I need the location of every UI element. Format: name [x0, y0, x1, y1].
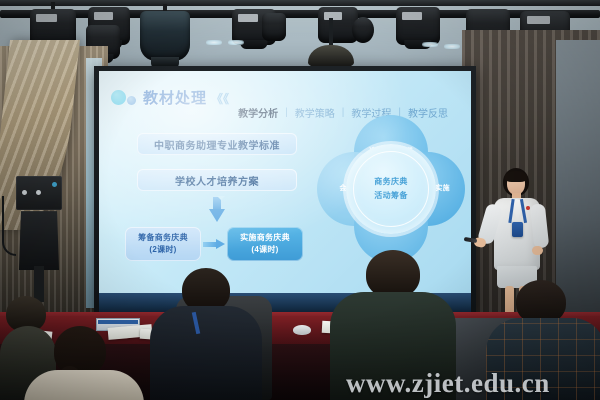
ceiling-downlight: [444, 44, 460, 49]
standard-card-talent-plan: 学校人才培养方案: [137, 169, 297, 191]
ceiling-downlight: [228, 40, 244, 45]
av-device: [16, 176, 62, 210]
arrow-notch: [217, 196, 225, 200]
petal-diagram: 选择传播渠道 会场布置 活动策划实施 邀请函拟写 商务庆典 活动筹备: [317, 115, 465, 263]
audience-member: [24, 326, 144, 400]
stage-light-blue: [140, 4, 190, 60]
ceiling-downlight: [206, 40, 222, 45]
standard-card-curriculum: 中职商务助理专业教学标准: [137, 133, 297, 155]
ceiling-downlight: [422, 42, 438, 47]
flow-step-prepare: 筹备商务庆典 (2课时): [125, 227, 201, 261]
presenter-right-arm: [530, 203, 550, 248]
stage-light-label: [527, 16, 550, 24]
stage-light-label: [36, 14, 57, 22]
stage-light: [396, 0, 440, 42]
stage-light: [262, 6, 286, 38]
desk-nameplate-banner: [98, 320, 138, 324]
av-cable: [2, 196, 16, 256]
petal-core-line1: 商务庆典: [374, 175, 408, 189]
flow-step-hours: (4课时): [251, 244, 278, 256]
arrow-right-icon: [203, 239, 225, 249]
av-knob: [22, 190, 27, 195]
av-stand-body: [19, 211, 59, 270]
audience-shoulders: [150, 306, 262, 400]
flow-step-execute: 实施商务庆典 (4课时): [227, 227, 303, 261]
presenter-right-hand: [532, 246, 543, 255]
slide-header: 教材处理 《《 教学分析 | 教学策略 | 教学过程 | 教学反思: [107, 87, 463, 113]
stage-light-body: [140, 11, 190, 61]
av-equipment-stand: [16, 176, 62, 296]
audience-head: [366, 250, 420, 298]
stage-light: [352, 10, 374, 40]
decorative-dot-small-icon: [127, 96, 136, 105]
audience-shoulders: [24, 370, 144, 400]
arrow-head: [209, 209, 225, 222]
arrow-shaft: [203, 242, 217, 247]
tab-teaching-analysis[interactable]: 教学分析: [231, 105, 285, 120]
stage-light-body: [262, 13, 286, 41]
av-knob: [36, 190, 41, 195]
petal-core-line2: 活动筹备: [374, 189, 408, 203]
presenter-fringe: [505, 171, 527, 182]
flow-step-hours: (2课时): [149, 244, 176, 256]
av-indicator-led: [52, 182, 57, 187]
stage-light-lens: [240, 40, 267, 49]
petal-core-label: 商务庆典 活动筹备: [353, 151, 429, 227]
stage-light-label: [402, 12, 422, 20]
arrow-head: [216, 239, 225, 249]
flow-step-title: 实施商务庆典: [240, 232, 290, 244]
double-chevron-icon: 《《: [211, 90, 229, 107]
stage-light-label: [238, 14, 258, 22]
decorative-dot-large-icon: [111, 90, 126, 105]
computer-mouse: [293, 325, 311, 335]
audience-member: [150, 268, 262, 400]
slide-title: 教材处理: [143, 87, 207, 108]
arrow-down-icon: [209, 197, 225, 223]
stage-light-body: [396, 7, 440, 45]
screenshot-scene: 教材处理 《《 教学分析 | 教学策略 | 教学过程 | 教学反思 中职商务助理…: [0, 0, 600, 400]
flow-step-title: 筹备商务庆典: [138, 232, 188, 244]
stage-light-body: [352, 17, 374, 43]
presenter-badge: [512, 222, 523, 237]
site-watermark: www.zjiet.edu.cn: [346, 368, 550, 399]
